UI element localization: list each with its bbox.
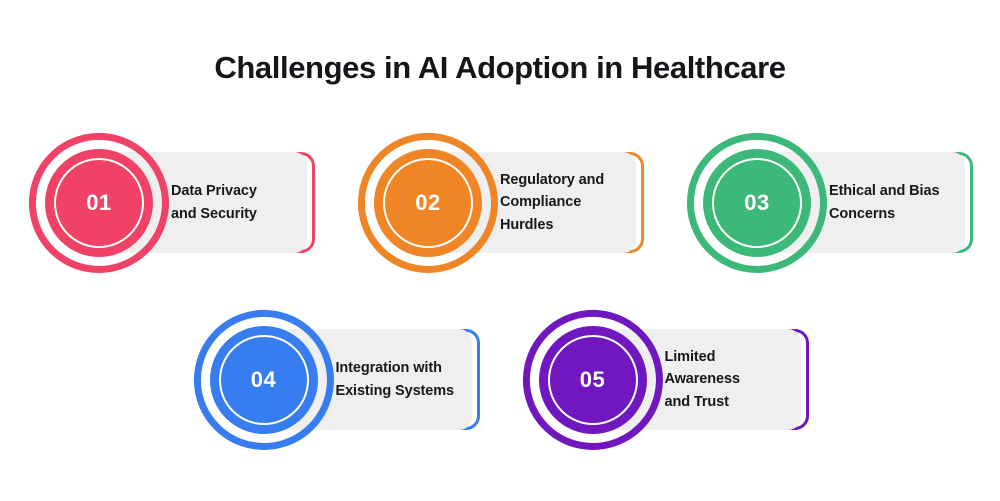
infographic-page: Challenges in AI Adoption in Healthcare … [0,0,1000,501]
challenge-item-05[interactable]: Limited Awareness and Trust05 [521,308,809,452]
ring-badge-icon: 03 [685,131,829,275]
challenge-item-02[interactable]: Regulatory and Compliance Hurdles02 [356,131,644,275]
ring-badge-icon: 04 [192,308,336,452]
challenge-item-03[interactable]: Ethical and Bias Concerns03 [685,131,973,275]
ring-badge-icon: 02 [356,131,500,275]
badge-disc [539,326,647,434]
ring-badge-icon: 01 [27,131,171,275]
badge-disc [703,149,811,257]
challenge-item-04[interactable]: Integration with Existing Systems04 [192,308,480,452]
page-title: Challenges in AI Adoption in Healthcare [0,50,1000,86]
badge-disc [210,326,318,434]
badge-disc [45,149,153,257]
challenge-row-2: Integration with Existing Systems04Limit… [0,308,1000,452]
badge-disc [374,149,482,257]
challenge-item-01[interactable]: Data Privacy and Security01 [27,131,315,275]
ring-badge-icon: 05 [521,308,665,452]
challenge-row-1: Data Privacy and Security01Regulatory an… [0,131,1000,275]
